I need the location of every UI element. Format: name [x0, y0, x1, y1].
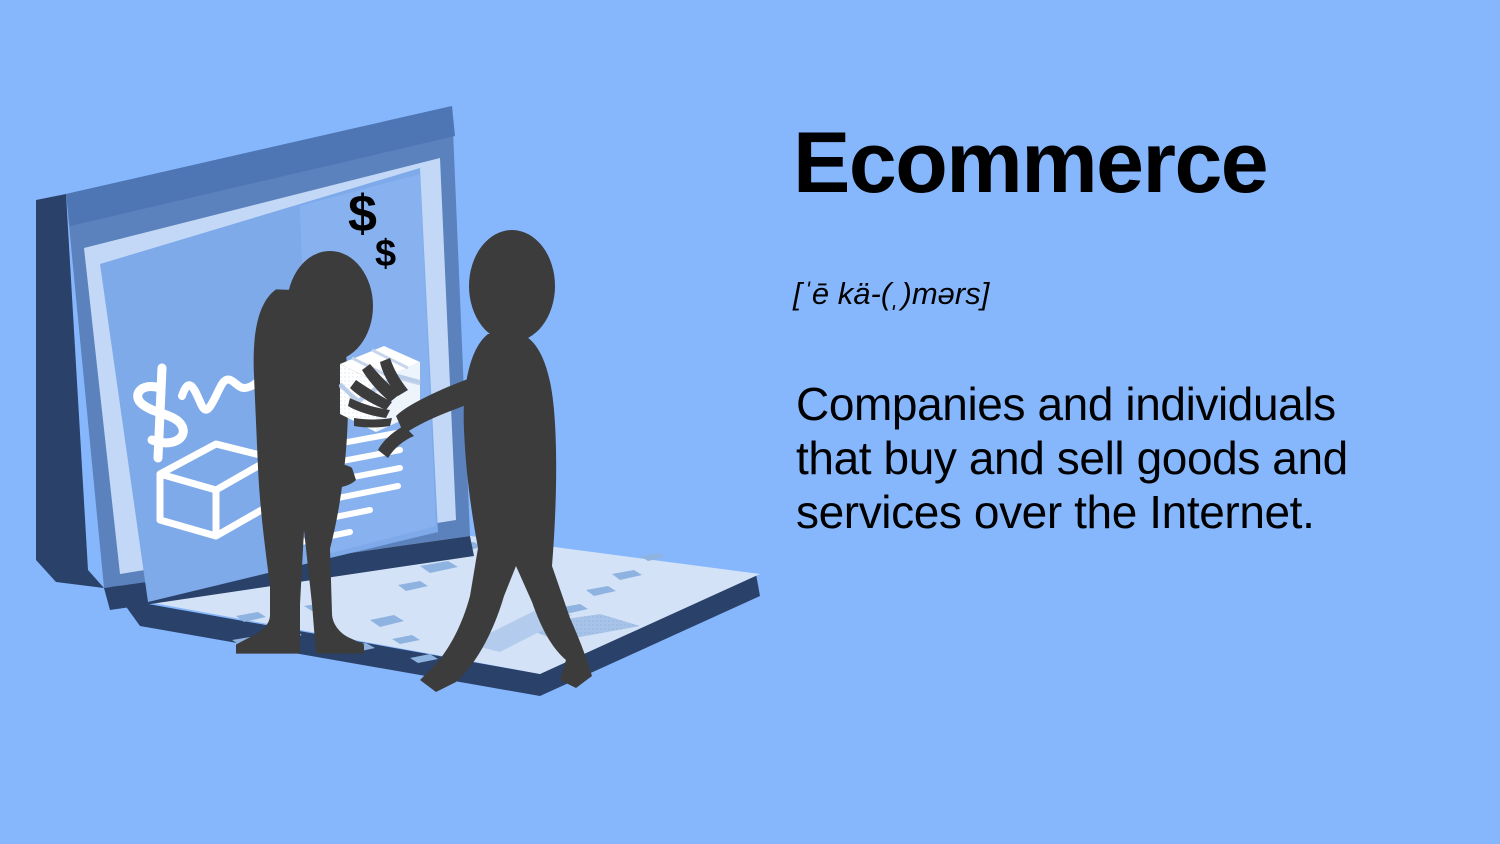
term-text-column: Ecommerce [ˈē kä-(ˌ)mərs] Companies and …: [793, 120, 1433, 206]
dollar-sign-large: $: [348, 185, 377, 243]
slide-canvas: $ $: [0, 0, 1500, 844]
dollar-sign-small: $: [375, 233, 396, 275]
page-title: Ecommerce: [793, 120, 1433, 206]
laptop-ecommerce-illustration: $ $: [0, 96, 760, 696]
pronunciation-text: [ˈē kä-(ˌ)mərs]: [793, 276, 989, 312]
definition-text: Companies and individuals that buy and s…: [796, 378, 1416, 539]
